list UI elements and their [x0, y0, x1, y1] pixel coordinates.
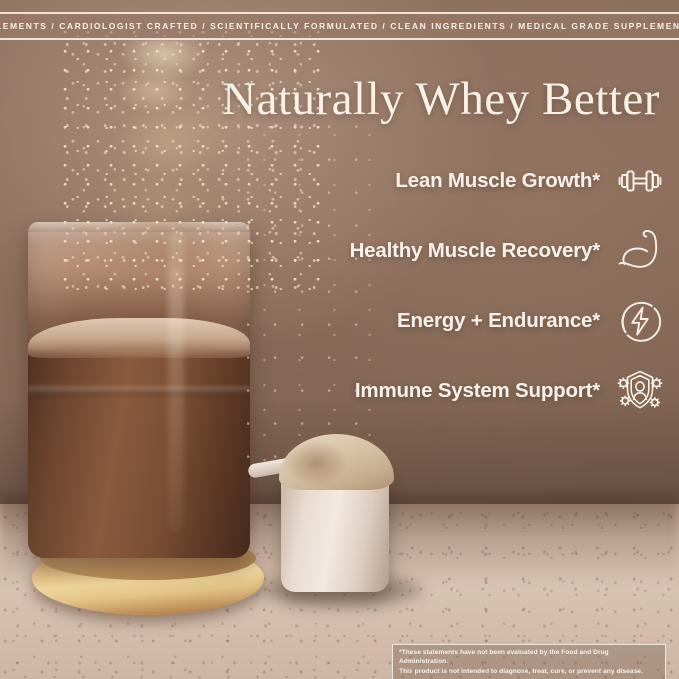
page-title: Naturally Whey Better	[216, 76, 666, 123]
benefit-row-energy-endurance: Energy + Endurance*	[250, 286, 666, 356]
benefit-row-immune-system-support: Immune System Support*	[250, 356, 666, 426]
lightning-bolt-icon	[614, 295, 666, 347]
flexed-bicep-icon	[614, 225, 666, 277]
fda-disclaimer: *These statements have not been evaluate…	[392, 644, 666, 679]
benefit-label: Healthy Muscle Recovery*	[350, 239, 600, 263]
immune-shield-icon	[614, 365, 666, 417]
benefit-label: Immune System Support*	[355, 379, 600, 403]
banner-claims-text: LEMENTS / CARDIOLOGIST CRAFTED / SCIENTI…	[0, 21, 679, 31]
glass-ridge-line	[28, 386, 250, 396]
product-marketing-image: LEMENTS / CARDIOLOGIST CRAFTED / SCIENTI…	[0, 0, 679, 679]
benefit-label: Lean Muscle Growth*	[395, 169, 600, 193]
shake-foam-layer	[28, 318, 250, 358]
shake-liquid	[28, 350, 250, 558]
benefit-label: Energy + Endurance*	[397, 309, 600, 333]
benefits-list: Lean Muscle Growth* Healthy Muscle Recov…	[250, 146, 666, 426]
benefit-row-healthy-muscle-recovery: Healthy Muscle Recovery*	[250, 216, 666, 286]
disclaimer-line-2: This product is not intended to diagnose…	[399, 667, 659, 676]
benefit-row-lean-muscle-growth: Lean Muscle Growth*	[250, 146, 666, 216]
top-claims-banner: LEMENTS / CARDIOLOGIST CRAFTED / SCIENTI…	[0, 12, 679, 40]
dumbbell-icon	[614, 155, 666, 207]
disclaimer-line-1: *These statements have not been evaluate…	[399, 648, 659, 667]
